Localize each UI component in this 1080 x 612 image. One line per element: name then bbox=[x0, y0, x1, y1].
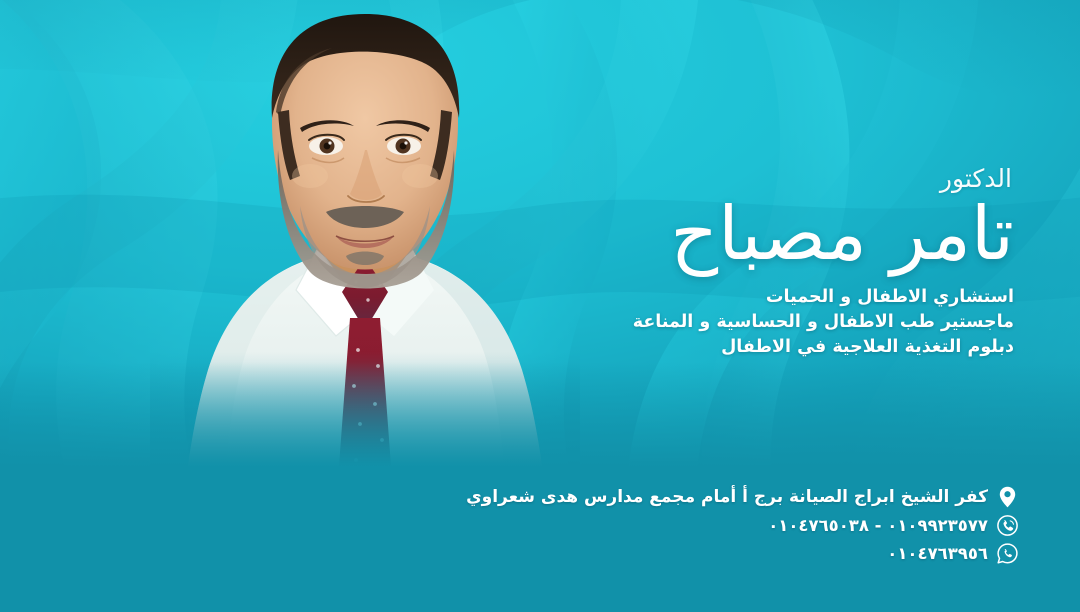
whatsapp-icon bbox=[996, 542, 1018, 564]
location-pin-icon bbox=[996, 486, 1018, 508]
clinic-address: كفر الشيخ ابراج الصيانة برج أ أمام مجمع … bbox=[466, 486, 988, 508]
credentials-list: استشاري الاطفال و الحميات ماجستير طب الا… bbox=[584, 285, 1014, 360]
doctor-identity-block: الدكتور تامر مصباح استشاري الاطفال و الح… bbox=[584, 166, 1014, 359]
credential-line-3: دبلوم التغذية العلاجية في الاطفال bbox=[584, 335, 1014, 360]
contact-block: كفر الشيخ ابراج الصيانة برج أ أمام مجمع … bbox=[418, 486, 1018, 564]
doctor-promo-banner: الدكتور تامر مصباح استشاري الاطفال و الح… bbox=[0, 0, 1080, 612]
contact-row-phone[interactable]: ٠١٠٩٩٢٣٥٧٧ - ٠١٠٤٧٦٥٠٣٨ bbox=[418, 514, 1018, 536]
credential-line-1: استشاري الاطفال و الحميات bbox=[584, 285, 1014, 310]
phone-icon bbox=[996, 514, 1018, 536]
doctor-title-prefix: الدكتور bbox=[584, 166, 1012, 191]
doctor-name: تامر مصباح bbox=[584, 195, 1014, 275]
whatsapp-number: ٠١٠٤٧٦٣٩٥٦ bbox=[887, 544, 988, 563]
credential-line-2: ماجستير طب الاطفال و الحساسية و المناعة bbox=[584, 310, 1014, 335]
contact-row-address: كفر الشيخ ابراج الصيانة برج أ أمام مجمع … bbox=[418, 486, 1018, 508]
contact-row-whatsapp[interactable]: ٠١٠٤٧٦٣٩٥٦ bbox=[418, 542, 1018, 564]
phone-numbers: ٠١٠٩٩٢٣٥٧٧ - ٠١٠٤٧٦٥٠٣٨ bbox=[768, 516, 988, 535]
